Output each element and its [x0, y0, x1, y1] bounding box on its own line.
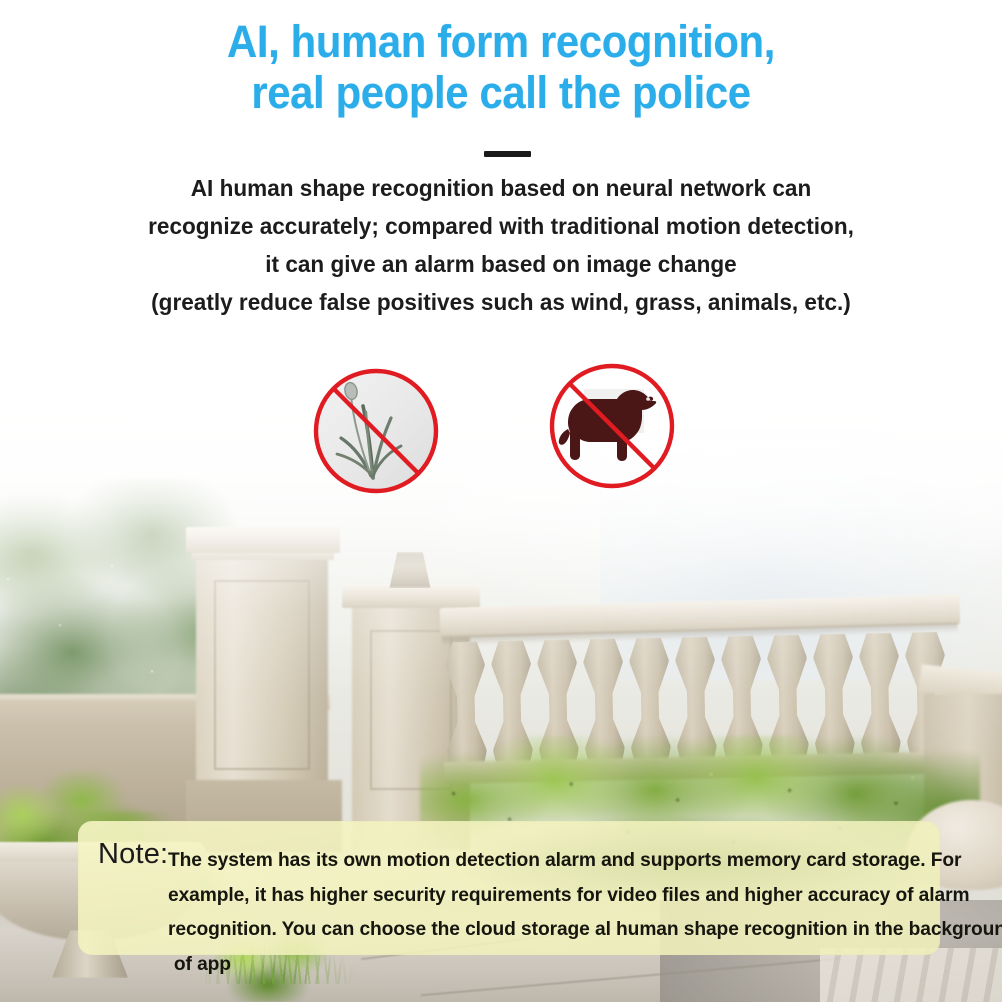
dog-eye	[646, 397, 650, 401]
content-layer: AI, human form recognition, real people …	[0, 0, 1002, 1002]
no-grass-icon	[311, 366, 441, 496]
no-grass-svg	[311, 366, 441, 496]
no-dog-icon	[547, 363, 677, 493]
note-line-4: of app	[168, 947, 905, 982]
note-line-2: example, it has higher security requirem…	[168, 878, 905, 913]
no-dog-svg	[547, 363, 677, 493]
note-line-1: The system has its own motion detection …	[168, 843, 905, 878]
note-text: The system has its own motion detection …	[168, 843, 905, 981]
poster-canvas: AI, human form recognition, real people …	[0, 0, 1002, 1002]
note-line-3: recognition. You can choose the cloud st…	[168, 912, 905, 947]
note-label: Note:	[98, 837, 168, 871]
note-box: Note: The system has its own motion dete…	[78, 821, 940, 955]
